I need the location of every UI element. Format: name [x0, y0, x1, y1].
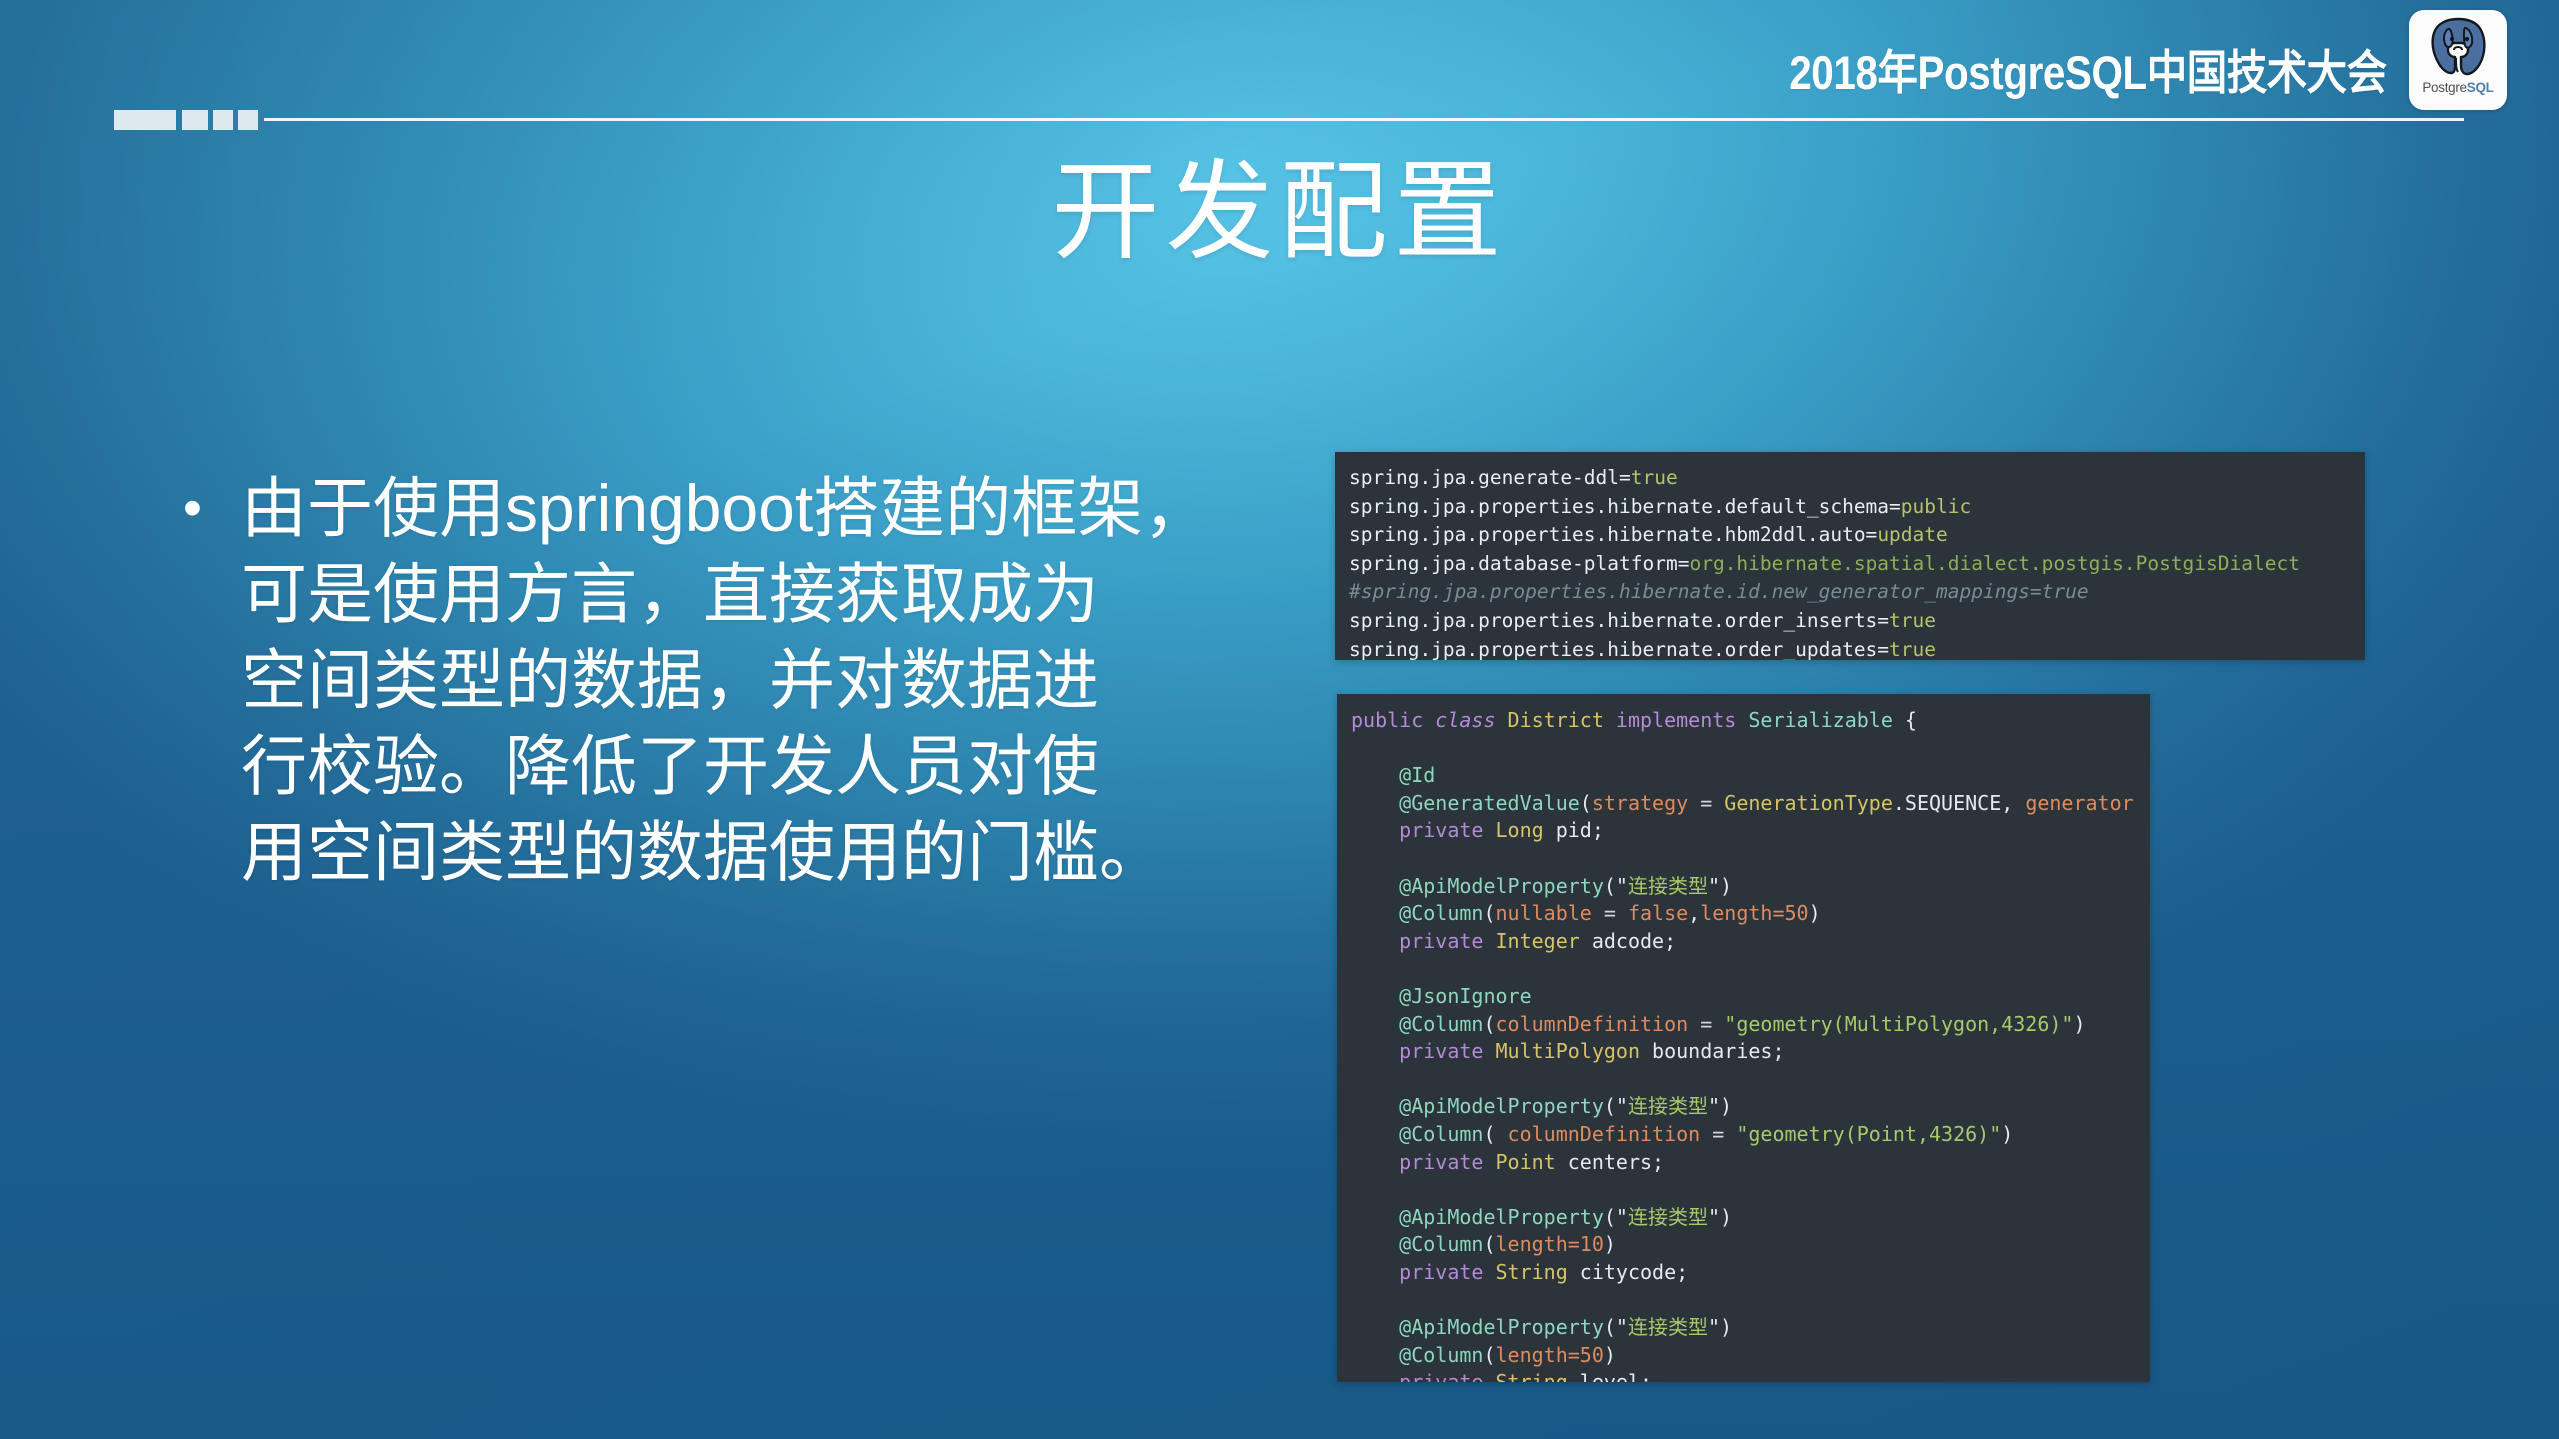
java-code-line-10 [1351, 955, 2150, 983]
java-code-line-14 [1351, 1066, 2150, 1094]
properties-code-line-5: #spring.jpa.properties.hibernate.id.new_… [1349, 578, 2365, 607]
java-code-line-8: @Column(nullable = false,length=50) [1351, 900, 2150, 928]
java-code-block: public class District implements Seriali… [1337, 694, 2150, 1382]
page-title: 开发配置 [0, 155, 2559, 268]
java-code-line-6 [1351, 845, 2150, 873]
postgresql-logo: PostgreSQL [2409, 10, 2507, 110]
bullet-list: • 由于使用springboot搭建的框架，可是使用方言，直接获取成为空间类型的… [175, 465, 1305, 895]
conference-title: 2018年PostgreSQL中国技术大会 [1790, 34, 2387, 103]
properties-code-line-1: spring.jpa.generate-ddl=true [1349, 464, 2365, 493]
properties-code-line-3: spring.jpa.properties.hibernate.hbm2ddl.… [1349, 521, 2365, 550]
java-code-line-18 [1351, 1176, 2150, 1204]
java-code-line-17: private Point centers; [1351, 1149, 2150, 1177]
deco-bar-3 [213, 110, 233, 130]
java-code-line-5: private Long pid; [1351, 817, 2150, 845]
java-code-line-9: private Integer adcode; [1351, 928, 2150, 956]
java-code-line-16: @Column( columnDefinition = "geometry(Po… [1351, 1121, 2150, 1149]
properties-code-line-7: spring.jpa.properties.hibernate.order_up… [1349, 636, 2365, 660]
java-code-line-22 [1351, 1286, 2150, 1314]
properties-code-line-2: spring.jpa.properties.hibernate.default_… [1349, 493, 2365, 522]
properties-code-line-4: spring.jpa.database-platform=org.hiberna… [1349, 550, 2365, 579]
java-code-line-3: @Id [1351, 762, 2150, 790]
java-code-line-21: private String citycode; [1351, 1259, 2150, 1287]
logo-text-postgre: Postgre [2422, 80, 2466, 95]
java-code-line-4: @GeneratedValue(strategy = GenerationTyp… [1351, 790, 2150, 818]
java-code-line-25: private String level; [1351, 1369, 2150, 1382]
deco-bar-4 [238, 110, 258, 130]
bullet-line-3: 空间类型的数据，并对数据进 [241, 637, 1209, 723]
bullet-item-text: 由于使用springboot搭建的框架，可是使用方言，直接获取成为空间类型的数据… [241, 465, 1209, 895]
postgresql-elephant-icon [2425, 15, 2491, 79]
java-code-line-23: @ApiModelProperty("连接类型") [1351, 1314, 2150, 1342]
java-code-line-19: @ApiModelProperty("连接类型") [1351, 1204, 2150, 1232]
java-code-line-15: @ApiModelProperty("连接类型") [1351, 1093, 2150, 1121]
deco-bar-1 [114, 110, 176, 130]
bullet-marker: • [175, 465, 241, 551]
bullet-line-1: 由于使用springboot搭建的框架， [241, 465, 1209, 551]
header-divider-line [264, 118, 2464, 121]
java-code-line-13: private MultiPolygon boundaries; [1351, 1038, 2150, 1066]
bullet-line-5: 用空间类型的数据使用的门槛。 [241, 809, 1209, 895]
bullet-line-2: 可是使用方言，直接获取成为 [241, 551, 1209, 637]
logo-text-sql: SQL [2467, 80, 2494, 95]
properties-code-block: spring.jpa.generate-ddl=truespring.jpa.p… [1335, 452, 2365, 660]
slide-header: 2018年PostgreSQL中国技术大会 PostgreSQL [0, 0, 2559, 122]
java-code-line-2 [1351, 735, 2150, 763]
java-code-line-1: public class District implements Seriali… [1351, 707, 2150, 735]
java-code-line-24: @Column(length=50) [1351, 1342, 2150, 1370]
bullet-line-4: 行校验。降低了开发人员对使 [241, 723, 1209, 809]
deco-bar-2 [182, 110, 208, 130]
java-code-line-20: @Column(length=10) [1351, 1231, 2150, 1259]
java-code-line-7: @ApiModelProperty("连接类型") [1351, 873, 2150, 901]
java-code-line-12: @Column(columnDefinition = "geometry(Mul… [1351, 1011, 2150, 1039]
postgresql-logo-text: PostgreSQL [2422, 80, 2493, 95]
java-code-line-11: @JsonIgnore [1351, 983, 2150, 1011]
properties-code-line-6: spring.jpa.properties.hibernate.order_in… [1349, 607, 2365, 636]
